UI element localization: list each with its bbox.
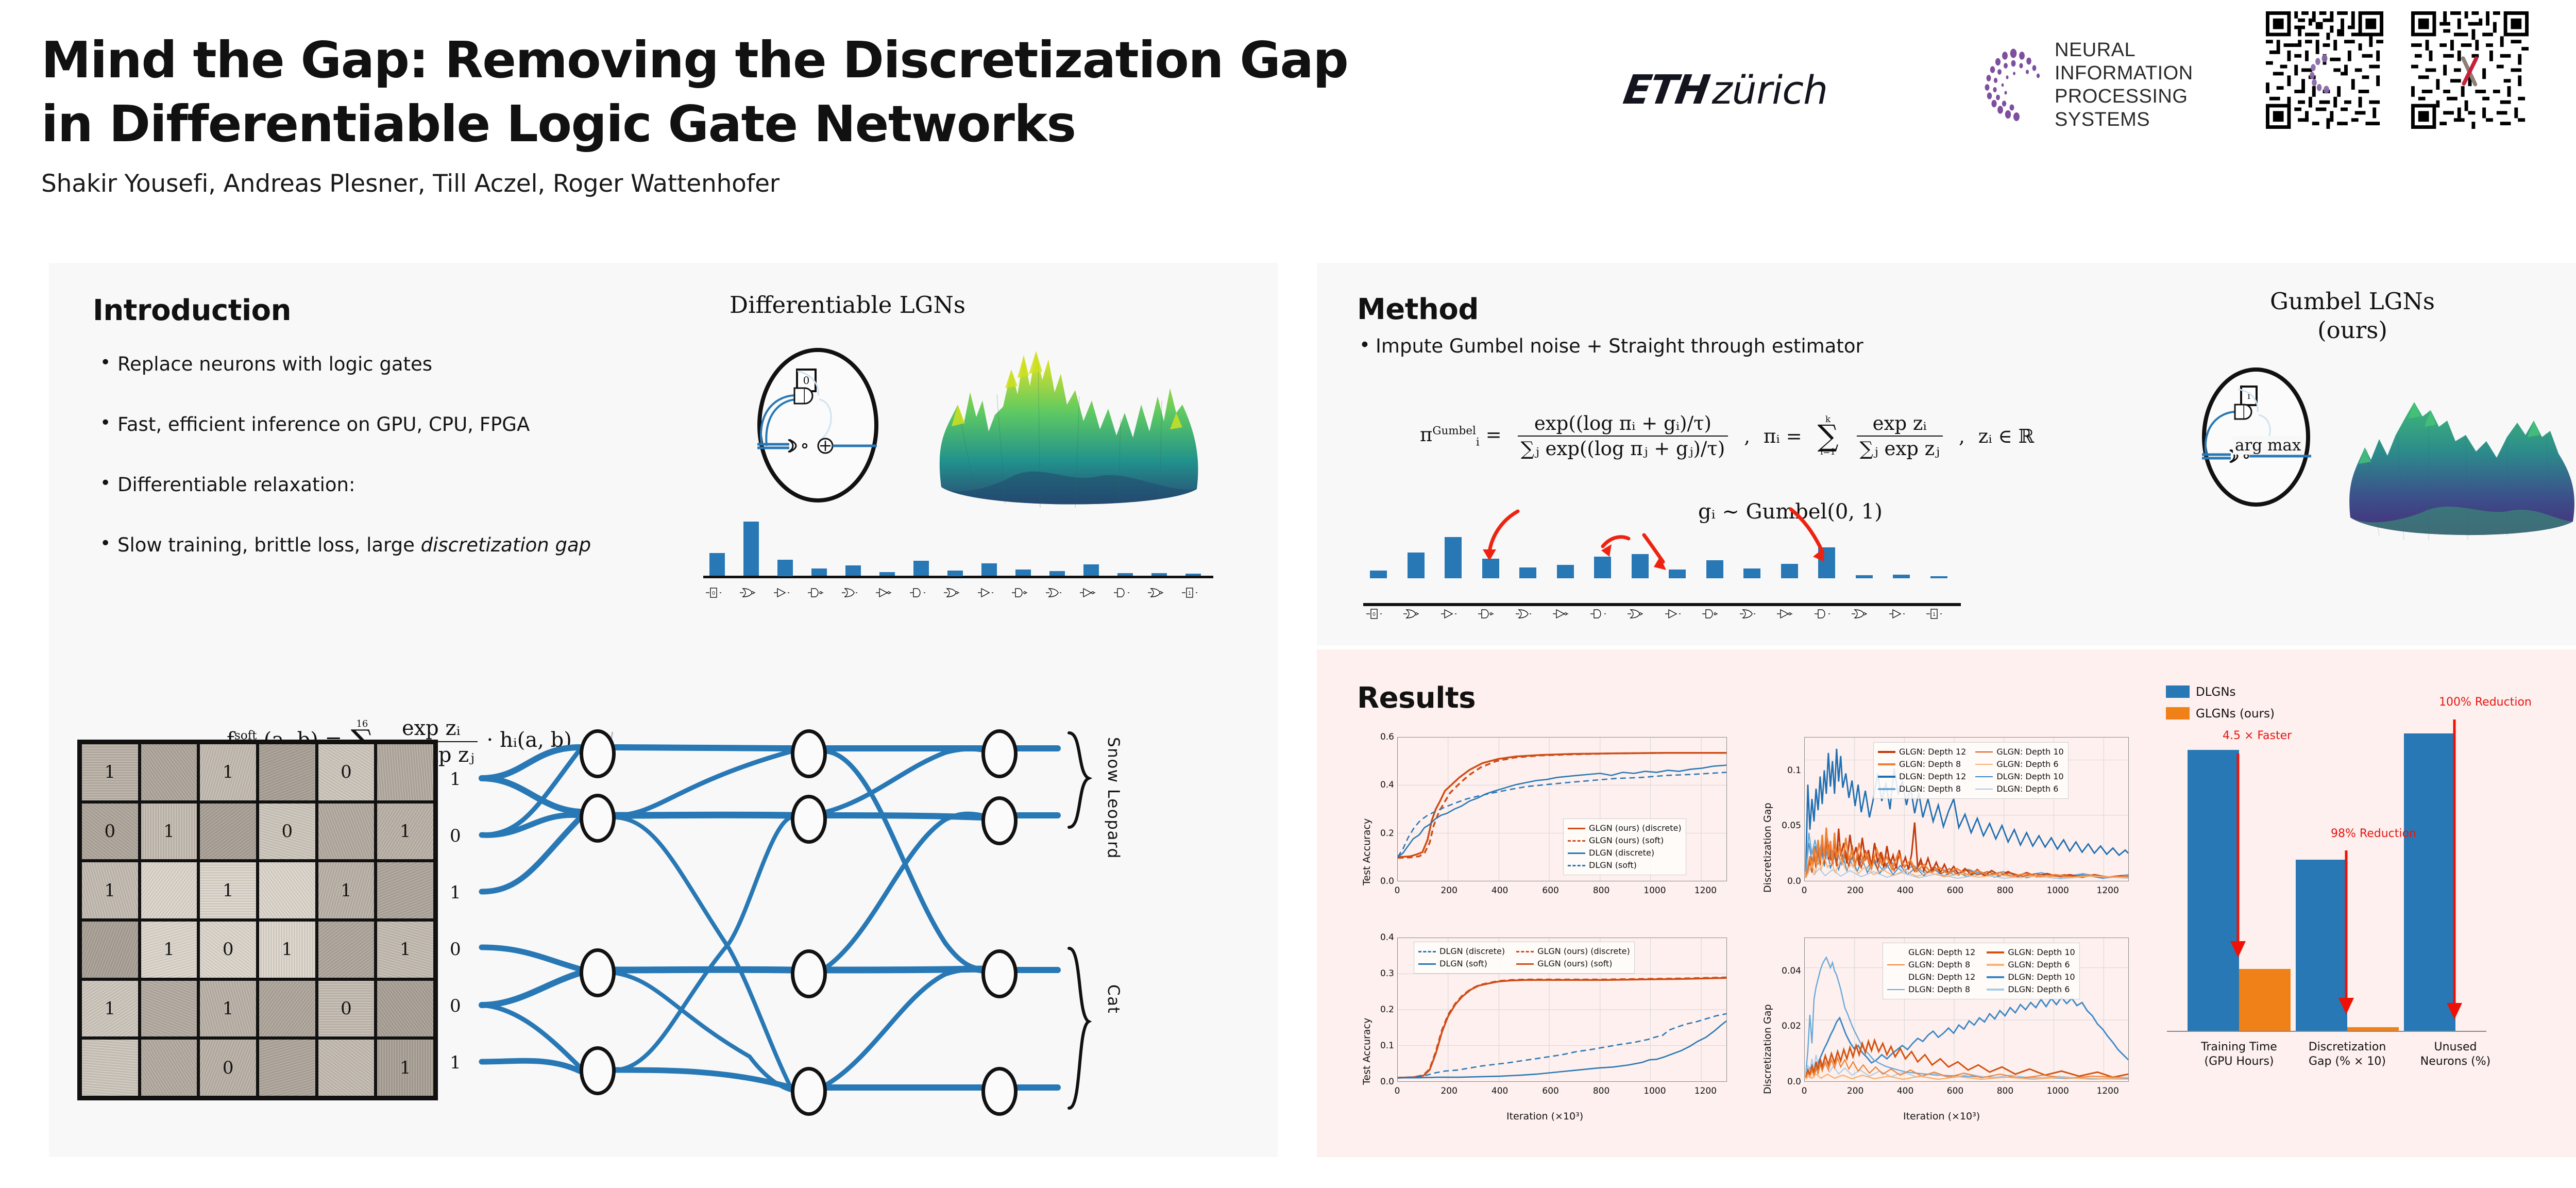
gumbel-numerator: exp((log πᵢ + gᵢ)/τ) <box>1531 412 1715 436</box>
bar-reduction-annotation: 4.5 × Faster <box>2223 729 2292 742</box>
grid-cell-value: 1 <box>163 821 175 842</box>
legend-entry: GLGN (ours) (soft) <box>1568 834 1682 847</box>
pi-subscript: i <box>1476 436 1480 448</box>
gate-probability-bar <box>1015 570 1031 576</box>
legend-entry: GLGN (ours) (discrete) <box>1516 945 1630 958</box>
grid-cell <box>198 802 258 861</box>
method-panel: Method Impute Gumbel noise + Straight th… <box>1317 263 2576 645</box>
grid-cell-value: 1 <box>163 939 175 960</box>
grid-cell: 0 <box>317 743 376 802</box>
logic-gate-icon <box>944 586 959 599</box>
x-tick-label: 400 <box>1492 885 1506 896</box>
fraction-numerator: exp zᵢ <box>399 716 464 741</box>
logic-gate-icon <box>1628 607 1643 621</box>
output-group-label-cat: Cat <box>1104 984 1123 1014</box>
gate-symbol <box>1114 586 1129 602</box>
legend-entry: DLGN: Depth 12 <box>1887 971 1975 983</box>
logic-gate-icon <box>978 586 993 599</box>
qr-code-neurips-icon[interactable] <box>2266 11 2383 129</box>
grid-cell-value: 1 <box>400 821 411 842</box>
chart-discretization-gap-bottom: Discretization Gap GLGN: Depth 12GLGN: D… <box>1764 930 2140 1147</box>
logic-gate-icon <box>1590 607 1606 621</box>
pi-symbol: π <box>1420 424 1432 446</box>
legend-entry: GLGN: Depth 10 <box>1987 946 2075 959</box>
legend-entry: GLGN: Depth 12 <box>1887 946 1975 959</box>
grid-cell <box>317 802 376 861</box>
logic-gate-icon <box>842 586 857 599</box>
x-tick-label: 600 <box>1947 1086 1961 1096</box>
logic-gate-icon <box>740 586 755 599</box>
legend-entry-label: GLGN (ours) (discrete) <box>1589 822 1682 834</box>
legend-line-swatch <box>1887 989 1905 990</box>
legend-entry: DLGN: Depth 8 <box>1878 783 1966 795</box>
intro-bullet-4-text: Slow training, brittle loss, large <box>117 534 421 556</box>
grid-cell-value: 1 <box>105 880 116 901</box>
grid-cell: 0 <box>317 979 376 1039</box>
grid-cell: 0 <box>198 920 258 979</box>
logic-gate-icon <box>1740 607 1755 621</box>
gate-symbol <box>774 586 789 602</box>
gate-symbol <box>842 586 857 602</box>
x-tick-label: 800 <box>1997 885 2011 896</box>
y-tick-label: 0.4 <box>1372 780 1394 790</box>
svg-text:1: 1 <box>1933 612 1936 617</box>
chart2-legend: GLGN: Depth 12GLGN: Depth 10GLGN: Depth … <box>1873 742 2069 799</box>
legend-line-swatch <box>1975 764 1993 765</box>
grid-cell-value: 0 <box>341 998 352 1019</box>
logic-gate-icon <box>1852 607 1867 621</box>
network-node <box>791 795 827 844</box>
legend-entry-label: GLGN: Depth 8 <box>1899 758 1961 771</box>
chart4-legend: GLGN: Depth 12GLGN: Depth 10GLGN: Depth … <box>1883 943 2080 999</box>
x-tick-label: 1000 <box>1643 1086 1658 1096</box>
pi-superscript: Gumbel <box>1432 424 1476 437</box>
y-tick-label: 0.05 <box>1780 821 1801 831</box>
gate-symbol <box>740 586 755 602</box>
legend-entry: DLGN (discrete) <box>1418 945 1505 958</box>
grid-cell: 1 <box>80 979 140 1039</box>
introduction-heading: Introduction <box>93 294 291 327</box>
gumbel-softmax-formula: πGumbeli = exp((log πᵢ + gᵢ)/τ) ∑ⱼ exp((… <box>1420 412 2034 460</box>
legend-entry-label: GLGN: Depth 12 <box>1908 946 1975 959</box>
network-input-bit: 0 <box>450 996 461 1016</box>
network-node <box>580 729 616 778</box>
grid-cell <box>376 861 435 920</box>
legend-entry-label: GLGN (ours) (soft) <box>1537 958 1612 970</box>
grid-cell-texture <box>377 981 433 1037</box>
legend-entry: DLGN (soft) <box>1418 958 1505 970</box>
legend-entry-label: GLGN: Depth 6 <box>2008 959 2070 971</box>
logic-gate-icon <box>1080 586 1095 599</box>
intro-bullet-1: Replace neurons with logic gates <box>98 353 690 375</box>
chart-test-accuracy-top: Test Accuracy GLGN (ours) (discrete)GLGN… <box>1362 727 1738 923</box>
legend-entry-label: GLGN: Depth 12 <box>1899 746 1966 758</box>
grid-cell-texture <box>377 744 433 800</box>
y-tick-label: 0.04 <box>1780 966 1801 976</box>
legend-line-swatch <box>1568 840 1585 842</box>
logic-gate-icon <box>1665 607 1681 621</box>
svg-text:1: 1 <box>1188 591 1191 596</box>
logic-gate-icon <box>1148 586 1163 599</box>
gate-symbol <box>808 586 823 602</box>
grid-cell: 1 <box>140 802 199 861</box>
legend-line-swatch <box>1568 852 1585 854</box>
network-input-bit: 0 <box>450 826 461 846</box>
network-node <box>791 729 827 778</box>
logic-gate-icon <box>876 586 891 599</box>
gumbel-pi-block: πGumbeli = <box>1420 424 1502 448</box>
legend-entry-label: GLGN (ours) (soft) <box>1589 834 1664 847</box>
logic-gate-icon <box>1553 607 1568 621</box>
grid-cell <box>317 920 376 979</box>
legend-line-swatch <box>1975 776 1993 777</box>
bar-category-label-line: Unused <box>2389 1040 2521 1055</box>
x-tick-label: 800 <box>1593 885 1607 896</box>
network-node <box>580 794 616 843</box>
legend-entry: GLGN: Depth 8 <box>1887 959 1975 971</box>
gate-probability-bar <box>1049 571 1065 576</box>
chart1-ylabel: Test Accuracy <box>1361 757 1372 885</box>
gate-symbol <box>1590 607 1606 623</box>
grid-cell-value: 1 <box>400 1058 411 1078</box>
author-list: Shakir Yousefi, Andreas Plesner, Till Ac… <box>41 170 1561 198</box>
logic-gate-icon: 0 <box>1366 607 1382 621</box>
x-tick-label: 1000 <box>2047 1086 2061 1096</box>
legend-entry-label: DLGN: Depth 12 <box>1908 971 1975 983</box>
gate-symbol <box>944 586 959 602</box>
grid-cell: 1 <box>198 861 258 920</box>
gumbel-denominator: ∑ⱼ exp((log πⱼ + gⱼ)/τ) <box>1518 436 1728 460</box>
legend-entry-label: DLGN: Depth 6 <box>1996 783 2058 795</box>
barchart-legend-glgns: GLGNs (ours) <box>2166 707 2275 721</box>
grid-cell-texture <box>141 981 197 1037</box>
softmax-numerator-2: exp zᵢ <box>1870 412 1930 436</box>
chart4-xlabel: Iteration (×10³) <box>1903 1111 1980 1122</box>
logic-gate-icon: 1 <box>1182 586 1197 599</box>
gate-symbol <box>1080 586 1095 602</box>
gate-probability-bar <box>845 565 861 576</box>
equals-1: = <box>1486 424 1502 446</box>
legend-entry-label: GLGN (ours) (discrete) <box>1537 945 1630 958</box>
legend-line-swatch <box>1975 751 1993 752</box>
gumbel-perturbation-arrows <box>1363 490 1981 608</box>
bar-glgns <box>2239 969 2291 1031</box>
x-tick-label: 200 <box>1847 885 1861 896</box>
introduction-panel: Introduction Replace neurons with logic … <box>49 263 1278 1157</box>
gate-probability-bar <box>1185 574 1201 576</box>
gate-probability-bar <box>981 563 997 576</box>
x-tick-label: 1200 <box>1694 885 1709 896</box>
gumbel-lgn-figure: Gumbel LGNs (ours) i arg max <box>2193 288 2576 617</box>
poster-header: Mind the Gap: Removing the Discretizatio… <box>0 0 2576 263</box>
gate-probability-bar <box>777 560 793 576</box>
legend-line-swatch <box>1516 951 1534 952</box>
results-panel: Results Test Accuracy GLGN (ours) (discr… <box>1317 649 2576 1157</box>
logic-gate-icon <box>1403 607 1419 621</box>
gumbel-lgn-caption-line-1: Gumbel LGNs <box>2224 288 2481 315</box>
network-node <box>791 949 827 998</box>
y-tick-label: 0.1 <box>1780 765 1801 776</box>
y-tick-label: 0.0 <box>1372 876 1394 886</box>
pi-definition: πᵢ = <box>1764 425 1802 447</box>
legend-entry-label: GLGN: Depth 10 <box>2008 946 2075 959</box>
x-tick-label: 400 <box>1897 885 1911 896</box>
legend-entry: GLGN: Depth 10 <box>1975 746 2063 758</box>
gate-symbol <box>1148 586 1163 602</box>
legend-line-swatch <box>1878 776 1895 778</box>
bar-dlgns <box>2404 733 2455 1031</box>
x-tick-label: 1200 <box>1694 1086 1709 1096</box>
legend-entry: DLGN: Depth 6 <box>1987 983 2075 996</box>
differentiable-loss-surface <box>904 332 1224 518</box>
grid-cell-value: 1 <box>400 939 411 960</box>
grid-cell-value: 1 <box>223 762 234 782</box>
grid-cell <box>80 1038 140 1097</box>
logic-gate-icon <box>1702 607 1718 621</box>
intro-bullet-2: Fast, efficient inference on GPU, CPU, F… <box>98 413 690 436</box>
gate-symbol <box>1516 607 1531 623</box>
chart1-legend: GLGN (ours) (discrete)GLGN (ours) (soft)… <box>1563 818 1686 875</box>
chart4-ylabel: Discretization Gap <box>1762 945 1773 1094</box>
gate-symbol <box>1777 607 1792 623</box>
logic-gate-icon <box>808 586 823 599</box>
neurips-swirl-icon <box>1973 46 2050 124</box>
legend-label-dlgns: DLGNs <box>2196 685 2236 699</box>
x-tick-label: 0 <box>1797 1086 1811 1096</box>
grid-cell-texture <box>141 1040 197 1096</box>
intro-bullet-3: Differentiable relaxation: <box>98 474 690 496</box>
network-input-bit: 1 <box>450 769 461 790</box>
gate-probability-bar <box>1151 573 1167 576</box>
grid-cell: 1 <box>198 743 258 802</box>
gate-probability-bar <box>1117 573 1133 576</box>
neurips-wordmark: NEURAL INFORMATION PROCESSING SYSTEMS <box>2055 39 2241 131</box>
grid-cell <box>140 743 199 802</box>
barchart-baseline <box>2167 1031 2486 1032</box>
gate-symbol <box>876 586 891 602</box>
legend-entry: DLGN: Depth 8 <box>1887 983 1975 996</box>
comma-1: , <box>1744 425 1750 447</box>
method-logic-gate-symbol-row: 01 <box>1363 607 1981 629</box>
legend-line-swatch <box>1987 976 2004 978</box>
logic-gate-icon <box>1114 586 1129 599</box>
logic-gate-icon <box>1012 586 1027 599</box>
grid-cell-value: 1 <box>341 880 352 901</box>
y-tick-label: 0.3 <box>1372 968 1394 979</box>
gate-probability-bar <box>811 568 827 576</box>
legend-entry-label: GLGN: Depth 6 <box>1996 758 2058 771</box>
network-node <box>981 729 1018 778</box>
logic-gate-network-diagram: 101001 Snow Leopard Cat <box>461 727 1244 1139</box>
gate-symbol <box>1852 607 1867 623</box>
gate-symbol <box>1046 586 1061 602</box>
grid-cell <box>317 1038 376 1097</box>
gate-symbol <box>1702 607 1718 623</box>
grid-cell: 1 <box>198 979 258 1039</box>
legend-entry-label: DLGN: Depth 10 <box>1996 771 2063 783</box>
legend-line-swatch <box>1878 763 1895 765</box>
x-tick-label: 200 <box>1440 1086 1455 1096</box>
gate-symbol: 0 <box>1366 607 1382 623</box>
neurips-logo: NEURAL INFORMATION PROCESSING SYSTEMS <box>1973 46 2241 124</box>
legend-entry: DLGN: Depth 10 <box>1987 971 2075 983</box>
method-sigma-glyph: ∑ <box>1818 424 1839 449</box>
bar-glgns <box>2347 1027 2399 1031</box>
legend-entry: DLGN (discrete) <box>1568 847 1682 859</box>
logic-gate-icon <box>1046 586 1061 599</box>
y-tick-label: 0.6 <box>1372 732 1394 742</box>
results-heading: Results <box>1357 681 1476 715</box>
grid-cell-texture <box>200 804 256 860</box>
output-group-label-snow-leopard: Snow Leopard <box>1104 737 1123 859</box>
grid-cell <box>258 861 317 920</box>
grid-cell <box>140 1038 199 1097</box>
bar-reduction-annotation: 100% Reduction <box>2439 696 2532 709</box>
y-tick-label: 0.0 <box>1372 1077 1394 1087</box>
network-node <box>981 949 1018 998</box>
legend-entry-label: GLGN: Depth 8 <box>1908 959 1970 971</box>
intro-bullet-4-emphasis: discretization gap <box>421 534 591 556</box>
legend-entry: GLGN: Depth 6 <box>1987 959 2075 971</box>
legend-label-glgns: GLGNs (ours) <box>2196 707 2275 721</box>
gate-probability-bar <box>947 571 963 576</box>
eth-zurich-logo: ETHzürich <box>1624 67 1827 113</box>
legend-entry: DLGN: Depth 10 <box>1975 771 2063 783</box>
svg-text:0: 0 <box>1372 612 1376 617</box>
legend-entry: GLGN: Depth 12 <box>1878 746 1966 758</box>
logic-gate-icon: 0 <box>706 586 721 599</box>
logic-gate-icon <box>1889 607 1905 621</box>
softmax-fraction-2: exp zᵢ ∑ⱼ exp zⱼ <box>1857 412 1943 460</box>
x-tick-label: 1000 <box>2047 885 2061 896</box>
grid-cell-value: 0 <box>282 821 293 842</box>
gate-symbol <box>1441 607 1456 623</box>
grid-cell: 1 <box>376 802 435 861</box>
grid-cell <box>258 743 317 802</box>
network-edges <box>461 727 1244 1139</box>
grid-cell: 0 <box>80 802 140 861</box>
summary-bar-chart: DLGNs GLGNs (ours) Training Time(GPU Hou… <box>2151 675 2564 1134</box>
grid-cell-value: 1 <box>105 998 116 1019</box>
z-domain: zᵢ ∈ ℝ <box>1978 425 2035 447</box>
bar-category-label: UnusedNeurons (%) <box>2389 1040 2521 1068</box>
grid-cell: 1 <box>317 861 376 920</box>
poster-title-line-2: in Differentiable Logic Gate Networks <box>41 92 1561 156</box>
grid-cell-texture <box>82 1040 138 1096</box>
x-tick-label: 1200 <box>2097 1086 2111 1096</box>
grid-cell-texture <box>318 804 375 860</box>
x-tick-label: 400 <box>1492 1086 1506 1096</box>
legend-line-swatch <box>1516 963 1534 965</box>
gate-probability-bar <box>1083 564 1099 576</box>
y-tick-label: 0.1 <box>1372 1041 1394 1051</box>
x-tick-label: 600 <box>1542 1086 1556 1096</box>
legend-entry-label: DLGN (discrete) <box>1439 945 1505 958</box>
network-node <box>981 796 1018 845</box>
qr-code-paper-icon[interactable] <box>2411 11 2529 129</box>
poster-title-line-1: Mind the Gap: Removing the Discretizatio… <box>41 28 1561 92</box>
gumbel-fraction: exp((log πᵢ + gᵢ)/τ) ∑ⱼ exp((log πⱼ + gⱼ… <box>1518 412 1728 460</box>
gate-symbol <box>910 586 925 602</box>
neurips-line-1: NEURAL INFORMATION <box>2055 39 2241 85</box>
title-block: Mind the Gap: Removing the Discretizatio… <box>41 28 1561 198</box>
grid-cell <box>376 743 435 802</box>
y-tick-label: 0.0 <box>1780 1077 1801 1087</box>
network-input-bit: 0 <box>450 939 461 960</box>
bar-category-label-line: Neurons (%) <box>2389 1055 2521 1069</box>
x-tick-label: 1200 <box>2097 885 2111 896</box>
gate-distribution-bar-chart <box>703 518 1218 585</box>
method-bullet-1: Impute Gumbel noise + Straight through e… <box>1358 335 2131 357</box>
chart-discretization-gap-top: Discretization Gap GLGN: Depth 12GLGN: <box>1764 727 2140 923</box>
gate-symbol <box>1012 586 1027 602</box>
legend-line-swatch <box>1975 789 1993 790</box>
legend-entry: GLGN: Depth 6 <box>1975 758 2063 771</box>
x-tick-label: 1000 <box>1643 885 1658 896</box>
grid-cell: 1 <box>258 920 317 979</box>
logic-gate-icon <box>1777 607 1792 621</box>
gate-symbol <box>1553 607 1568 623</box>
legend-line-swatch <box>1987 989 2004 991</box>
gate-symbol <box>1740 607 1755 623</box>
intro-bullet-4: Slow training, brittle loss, large discr… <box>98 534 690 556</box>
legend-swatch-glgns <box>2166 707 2190 720</box>
comma-2: , <box>1959 425 1965 447</box>
gate-probability-bar <box>709 553 725 576</box>
gate-symbol <box>1889 607 1905 623</box>
network-node <box>580 948 616 997</box>
method-bullet-list: Impute Gumbel noise + Straight through e… <box>1358 335 2131 357</box>
grid-cell <box>80 920 140 979</box>
grid-cell <box>140 979 199 1039</box>
grid-cell-texture <box>259 1040 315 1096</box>
chart3-legend: DLGN (discrete)GLGN (ours) (discrete)DLG… <box>1414 942 1635 974</box>
differentiable-lgn-caption: Differentiable LGNs <box>703 291 992 319</box>
legend-swatch-dlgns <box>2166 685 2190 698</box>
legend-entry: GLGN (ours) (soft) <box>1516 958 1630 970</box>
gate-symbol <box>978 586 993 602</box>
grid-cell-value: 0 <box>223 1058 234 1078</box>
neurips-line-2: PROCESSING SYSTEMS <box>2055 85 2241 131</box>
chart3-ylabel: Test Accuracy <box>1361 956 1372 1085</box>
barchart-legend-dlgns: DLGNs <box>2166 685 2236 699</box>
network-input-bit: 1 <box>450 882 461 903</box>
grid-cell: 1 <box>376 1038 435 1097</box>
legend-line-swatch <box>1568 828 1585 829</box>
gumbel-lgn-caption-line-2: (ours) <box>2224 316 2481 344</box>
grid-cell-texture <box>141 862 197 918</box>
grid-cell-texture <box>259 862 315 918</box>
grid-cell-value: 0 <box>341 762 352 782</box>
zoomed-node-wiring <box>757 348 881 505</box>
grid-cell-texture <box>259 981 315 1037</box>
grid-cell-texture <box>377 862 433 918</box>
logic-gate-icon <box>1441 607 1456 621</box>
grid-cell-texture <box>259 744 315 800</box>
grid-cell: 1 <box>80 861 140 920</box>
gate-symbol: 1 <box>1182 586 1197 602</box>
grid-cell <box>140 861 199 920</box>
grid-cell-value: 0 <box>105 821 116 842</box>
grid-cell-value: 1 <box>223 880 234 901</box>
grid-cell-value: 1 <box>105 762 116 782</box>
chart2-ylabel: Discretization Gap <box>1762 743 1773 893</box>
logic-gate-icon <box>1516 607 1531 621</box>
legend-entry: DLGN: Depth 12 <box>1878 771 1966 783</box>
method-sum-lower-limit: i=1 <box>1820 448 1836 456</box>
legend-line-swatch <box>1418 951 1436 952</box>
legend-entry-label: DLGN: Depth 8 <box>1899 783 1961 795</box>
